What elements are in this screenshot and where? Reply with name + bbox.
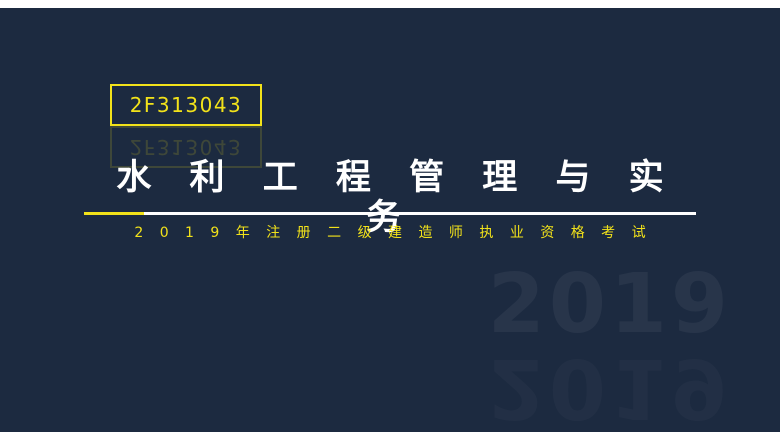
- course-code-box: 2F313043: [110, 84, 262, 126]
- watermark-year: 2019: [488, 264, 732, 346]
- course-code-reflection-text: 2F313043: [130, 137, 243, 157]
- slide-subtitle: 2 0 1 9 年 注 册 二 级 建 造 师 执 业 资 格 考 试: [84, 224, 696, 244]
- watermark-year-reflection: 2019: [488, 346, 732, 428]
- bottom-border-band: [0, 432, 780, 440]
- title-divider-accent: [84, 212, 144, 215]
- title-divider-rule: [84, 212, 696, 215]
- slide-canvas: 2019 2019 2F313043 2F313043 水 利 工 程 管 理 …: [0, 8, 780, 432]
- top-border-band: [0, 0, 780, 8]
- slide-root: 2019 2019 2F313043 2F313043 水 利 工 程 管 理 …: [0, 0, 780, 440]
- course-code-text: 2F313043: [130, 95, 243, 115]
